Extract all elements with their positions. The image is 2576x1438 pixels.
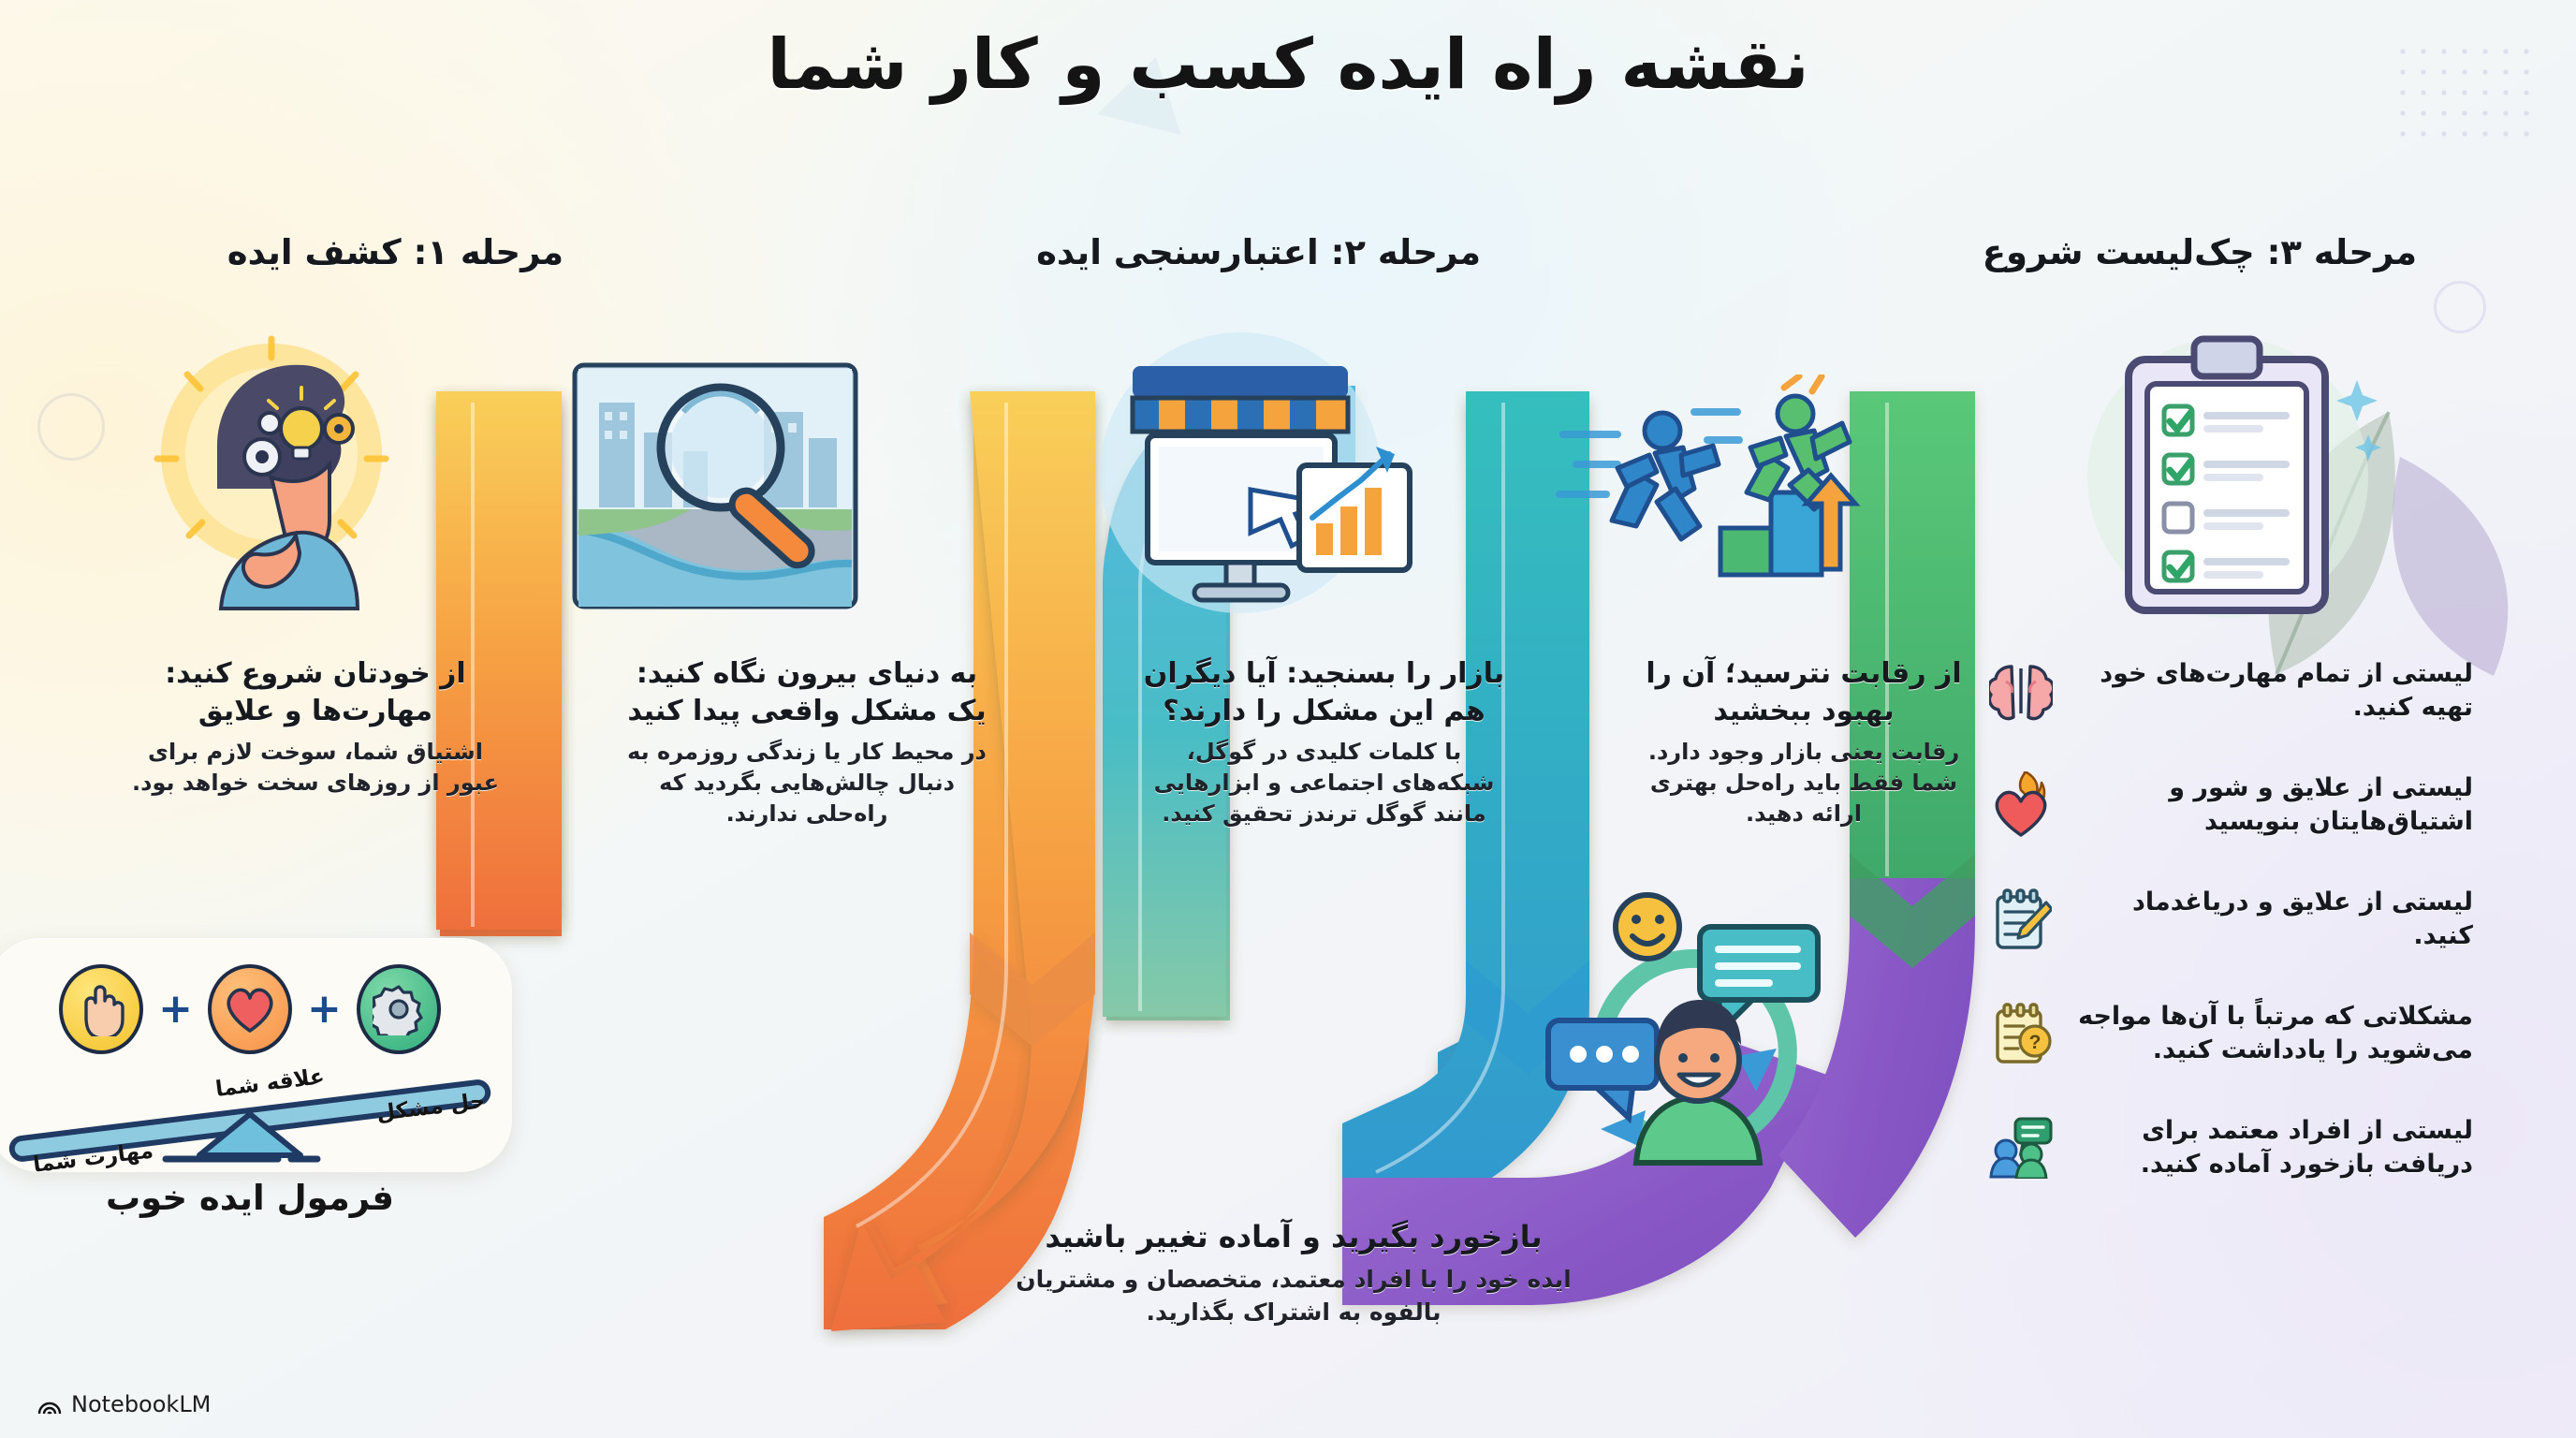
infographic-canvas: نقشه راه ایده کسب و کار شما مرحله ۱: کشف… — [0, 0, 2576, 1438]
hand-icon — [59, 964, 143, 1054]
clipboard-checklist-icon — [2087, 318, 2396, 637]
list-item: لیستی از افراد معتمد برای دریافت بازخورد… — [1986, 1103, 2473, 1193]
ck-5-text: لیستی از افراد معتمد برای دریافت بازخورد… — [2074, 1114, 2473, 1181]
heart-icon — [208, 964, 292, 1054]
ck-2-text: لیستی از علایق و شور و اشتیاق‌هایتان بنو… — [2074, 771, 2473, 839]
ck-3-text: لیستی از علایق و دریاغدماد کنید. — [2074, 886, 2473, 953]
magnifier-city-icon — [562, 346, 871, 627]
people-chat-icon — [1986, 1113, 2056, 1182]
storefront-analytics-icon — [1076, 332, 1432, 632]
list-item: لیستی از علایق و شور و اشتیاق‌هایتان بنو… — [1986, 760, 2473, 850]
good-idea-formula-card: + + حل مشکل علاقه شما مهارت شما — [0, 938, 512, 1172]
list-item: لیستی از تمام مهارت‌های خود تهیه کنید. — [1986, 646, 2473, 736]
startup-checklist: لیستی از تمام مهارت‌های خود تهیه کنید. ل… — [1986, 646, 2473, 1217]
ck-4-text: مشکلاتی که مرتباً با آن‌ها مواجه می‌شوید… — [2074, 1000, 2473, 1067]
feedback-loop-icon — [1535, 871, 1844, 1170]
ck-1-text: لیستی از تمام مهارت‌های خود تهیه کنید. — [2074, 657, 2473, 725]
runners-race-icon — [1554, 374, 1863, 609]
block-feedback-body: ایده خود را با افراد معتمد، متخصصان و مش… — [1013, 1264, 1574, 1328]
block-market-body: با کلمات کلیدی در گوگل، شبکه‌های اجتماعی… — [1139, 737, 1509, 829]
page-title: نقشه راه ایده کسب و کار شما — [0, 24, 2576, 105]
block-feedback-heading: بازخورد بگیرید و آماده تغییر باشید — [1013, 1217, 1574, 1256]
block-outside-body: در محیط کار یا زندگی روزمره به دنبال چال… — [620, 737, 994, 829]
block-self-heading: از خودتان شروع کنید: مهارت‌ها و علایق — [128, 655, 503, 729]
watermark-label: NotebookLM — [71, 1391, 211, 1417]
thinking-person-lightbulb-icon — [131, 328, 421, 627]
gear-icon — [357, 964, 441, 1054]
block-competition: از رقابت نترسید؛ آن را بهبود ببخشید رقاب… — [1631, 655, 1977, 830]
block-market-heading: بازار را بسنجید: آیا دیگران هم این مشکل … — [1139, 655, 1509, 729]
formula-caption: فرمول ایده خوب — [0, 1178, 512, 1218]
stage-1-header: مرحله ۱: کشف ایده — [227, 232, 563, 272]
list-item: لیستی از علایق و دریاغدماد کنید. — [1986, 874, 2473, 964]
block-outside-heading: به دنیای بیرون نگاه کنید: یک مشکل واقعی … — [620, 655, 994, 729]
block-self-body: اشتیاق شما، سوخت لازم برای عبور از روزها… — [128, 737, 503, 799]
formula-terms-row: + + — [0, 964, 512, 1054]
notepad-question-icon: ? — [1986, 999, 2056, 1068]
block-competition-body: رقابت یعنی بازار وجود دارد. شما فقط باید… — [1631, 737, 1977, 829]
watermark: NotebookLM — [37, 1391, 211, 1417]
block-feedback: بازخورد بگیرید و آماده تغییر باشید ایده … — [1013, 1217, 1574, 1328]
block-self: از خودتان شروع کنید: مهارت‌ها و علایق اش… — [128, 655, 503, 799]
stage-2-header: مرحله ۲: اعتبارسنجی ایده — [1036, 232, 1481, 272]
brain-icon — [1986, 656, 2056, 726]
flaming-heart-icon — [1986, 770, 2056, 840]
block-competition-heading: از رقابت نترسید؛ آن را بهبود ببخشید — [1631, 655, 1977, 729]
plus-operator-1: + — [158, 989, 193, 1030]
list-item: مشکلاتی که مرتباً با آن‌ها مواجه می‌شوید… — [1986, 989, 2473, 1078]
svg-text:?: ? — [2029, 1032, 2042, 1053]
stage-3-header: مرحله ۳: چک‌لیست شروع — [1983, 232, 2417, 272]
block-outside: به دنیای بیرون نگاه کنید: یک مشکل واقعی … — [620, 655, 994, 830]
plus-operator-2: + — [307, 989, 342, 1030]
notebooklm-logo-icon — [37, 1393, 62, 1416]
notepad-pencil-icon — [1986, 885, 2056, 954]
block-market: بازار را بسنجید: آیا دیگران هم این مشکل … — [1139, 655, 1509, 830]
